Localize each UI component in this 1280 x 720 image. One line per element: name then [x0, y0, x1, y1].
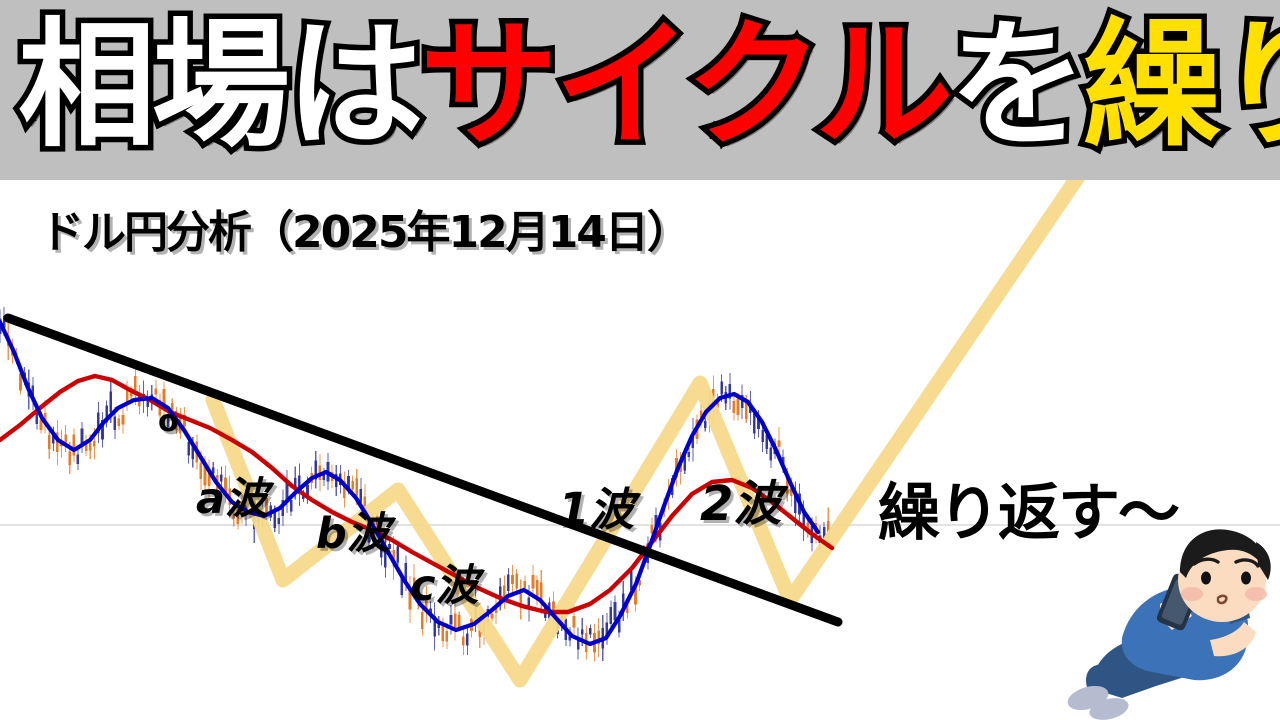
page-title: 相場はサイクルを繰り返す	[18, 5, 1268, 167]
youtube-thumbnail: o a波 b波 c波 1波 2波 繰り返す〜	[0, 0, 1280, 720]
person-lying-with-smartphone-icon	[1060, 520, 1280, 720]
wave-label-1: 1波	[558, 473, 634, 538]
wave-label-o: o	[158, 404, 179, 439]
wave-label-a: a波	[196, 464, 268, 526]
title-segment-1: 相場は	[18, 5, 420, 166]
title-banner: 相場はサイクルを繰り返す	[0, 0, 1280, 180]
wave-label-2: 2波	[700, 464, 781, 534]
subtitle-text: ドル円分析（2025年12月14日）	[40, 196, 689, 260]
title-segment-3: を	[949, 5, 1083, 166]
wave-label-b: b波	[316, 499, 390, 561]
wave-label-c: c波	[410, 551, 479, 613]
title-segment-4: 繰り返す	[1083, 5, 1280, 166]
title-segment-2: サイクル	[420, 5, 949, 166]
